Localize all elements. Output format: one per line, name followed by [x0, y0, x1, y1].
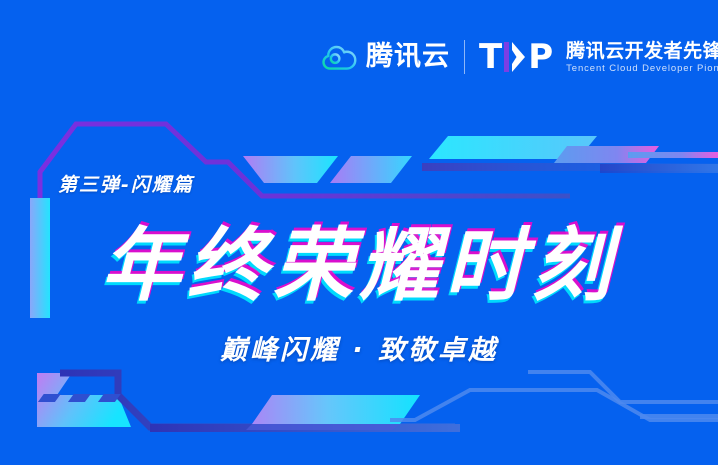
- program-title-cn: 腾讯云开发者先锋: [566, 40, 718, 62]
- tencent-cloud-icon: [322, 42, 358, 72]
- program-title-en: Tencent Cloud Developer Pioneer: [566, 62, 718, 75]
- brand-name-cn: 腾讯云: [366, 42, 450, 72]
- program-title-block: 腾讯云开发者先锋 Tencent Cloud Developer Pioneer: [566, 37, 718, 77]
- hero-subtitle: 巅峰闪耀 · 致敬卓越: [0, 328, 718, 367]
- brand-divider: [464, 40, 465, 74]
- brand-lockup: 腾讯云 T P 腾讯云开发者先锋 Tencent Cloud Developer…: [322, 34, 718, 80]
- top-letter-p: P: [528, 40, 553, 74]
- main-title: 年终荣耀时刻: [101, 218, 617, 314]
- top-chevron-icon: [503, 42, 527, 72]
- episode-badge: 第三弹-闪耀篇: [58, 170, 194, 197]
- top-program-mark: T P: [479, 40, 553, 74]
- bottom-right-outline-path: [390, 372, 718, 420]
- main-title-wrap: 年终荣耀时刻: [0, 218, 718, 314]
- top-letter-t: T: [479, 40, 502, 74]
- top-shape-cluster-right: [422, 136, 718, 173]
- poster-canvas: 腾讯云 T P 腾讯云开发者先锋 Tencent Cloud Developer…: [0, 0, 718, 465]
- top-shape-cluster-left: [243, 156, 412, 183]
